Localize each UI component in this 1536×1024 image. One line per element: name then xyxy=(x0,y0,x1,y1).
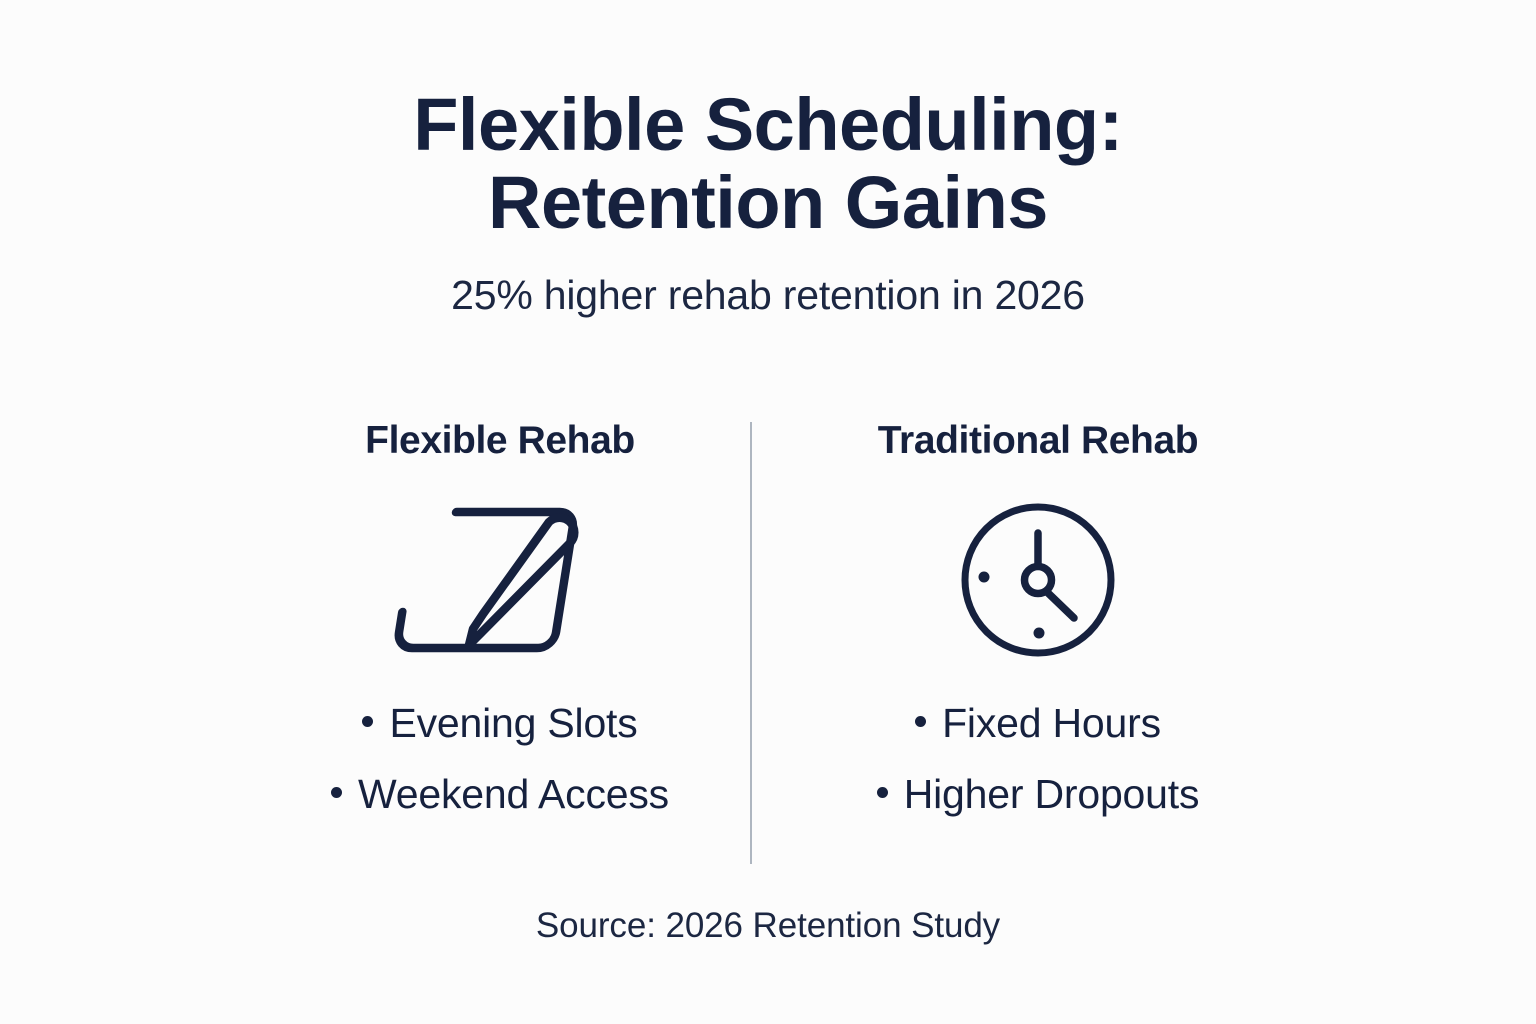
bullet-dot-icon xyxy=(362,716,373,727)
page-title-line-2: Retention Gains xyxy=(0,164,1536,242)
infographic-canvas: Flexible Scheduling: Retention Gains 25%… xyxy=(0,0,1536,1024)
bullet-dot-icon xyxy=(877,787,888,798)
column-header-flexible: Flexible Rehab xyxy=(250,420,750,476)
page-title-line-1: Flexible Scheduling: xyxy=(0,86,1536,164)
list-item: Higher Dropouts xyxy=(788,759,1288,830)
bullet-label: Higher Dropouts xyxy=(904,771,1200,817)
bullet-label: Weekend Access xyxy=(358,771,669,817)
comparison-column-traditional: Traditional Rehab F xyxy=(788,420,1288,830)
list-item: Evening Slots xyxy=(250,688,750,759)
source-note: Source: 2026 Retention Study xyxy=(0,905,1536,947)
note-pencil-icon xyxy=(250,490,750,670)
page-title: Flexible Scheduling: Retention Gains xyxy=(0,86,1536,243)
comparison-column-flexible: Flexible Rehab Evening Slots Weekend Acc… xyxy=(250,420,750,830)
list-item: Fixed Hours xyxy=(788,688,1288,759)
bullet-label: Evening Slots xyxy=(389,700,637,746)
bullet-list-flexible: Evening Slots Weekend Access xyxy=(250,688,750,830)
column-divider xyxy=(750,422,752,864)
header-block: Flexible Scheduling: Retention Gains 25%… xyxy=(0,86,1536,318)
page-subtitle: 25% higher rehab retention in 2026 xyxy=(0,273,1536,318)
column-header-traditional: Traditional Rehab xyxy=(788,420,1288,476)
clock-icon xyxy=(788,490,1288,670)
bullet-list-traditional: Fixed Hours Higher Dropouts xyxy=(788,688,1288,830)
list-item: Weekend Access xyxy=(250,759,750,830)
bullet-label: Fixed Hours xyxy=(942,700,1161,746)
comparison-section: Flexible Rehab Evening Slots Weekend Acc… xyxy=(0,420,1536,870)
bullet-dot-icon xyxy=(915,716,926,727)
bullet-dot-icon xyxy=(331,787,342,798)
